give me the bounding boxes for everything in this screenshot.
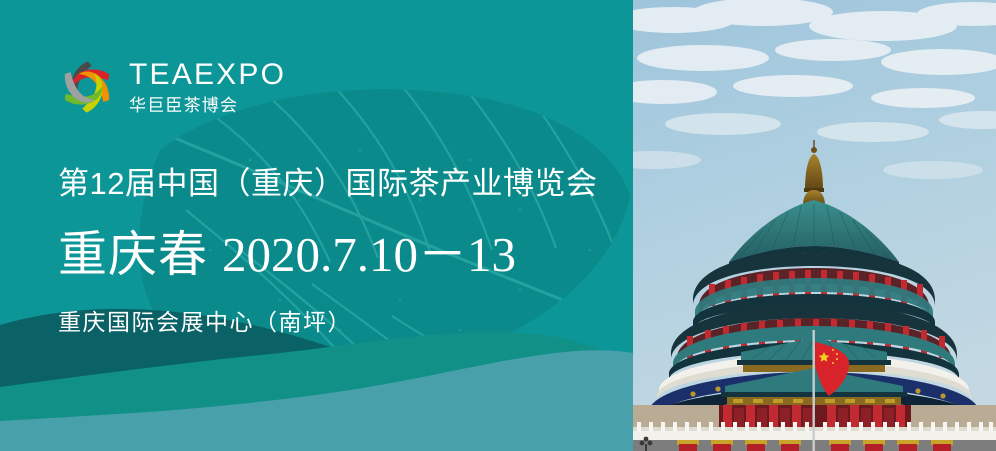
left-info-panel: TEAEXPO 华巨臣茶博会 第12届中国（重庆）国际茶产业博览会 重庆春202… (0, 0, 633, 451)
venue-photo (633, 0, 996, 451)
event-date-range: 2020.7.10－13 (222, 227, 516, 282)
event-season: 重庆春 (58, 227, 208, 282)
wave-mid (0, 332, 633, 451)
event-venue: 重庆国际会展中心（南坪） (58, 303, 352, 337)
tea-expo-banner: TEAEXPO 华巨臣茶博会 第12届中国（重庆）国际茶产业博览会 重庆春202… (0, 0, 996, 451)
teaexpo-swirl-logo-icon (58, 58, 116, 116)
logo-title: TEAEXPO (129, 60, 286, 90)
logo-wordmark: TEAEXPO 华巨臣茶博会 (129, 60, 286, 114)
wave-front (0, 350, 633, 451)
event-date-line: 重庆春2020.7.10－13 (58, 228, 516, 282)
brand-logo: TEAEXPO 华巨臣茶博会 (58, 58, 286, 116)
event-headline: 第12届中国（重庆）国际茶产业博览会 (58, 158, 597, 203)
logo-subtitle: 华巨臣茶博会 (129, 97, 286, 114)
great-hall-illustration (633, 0, 996, 451)
